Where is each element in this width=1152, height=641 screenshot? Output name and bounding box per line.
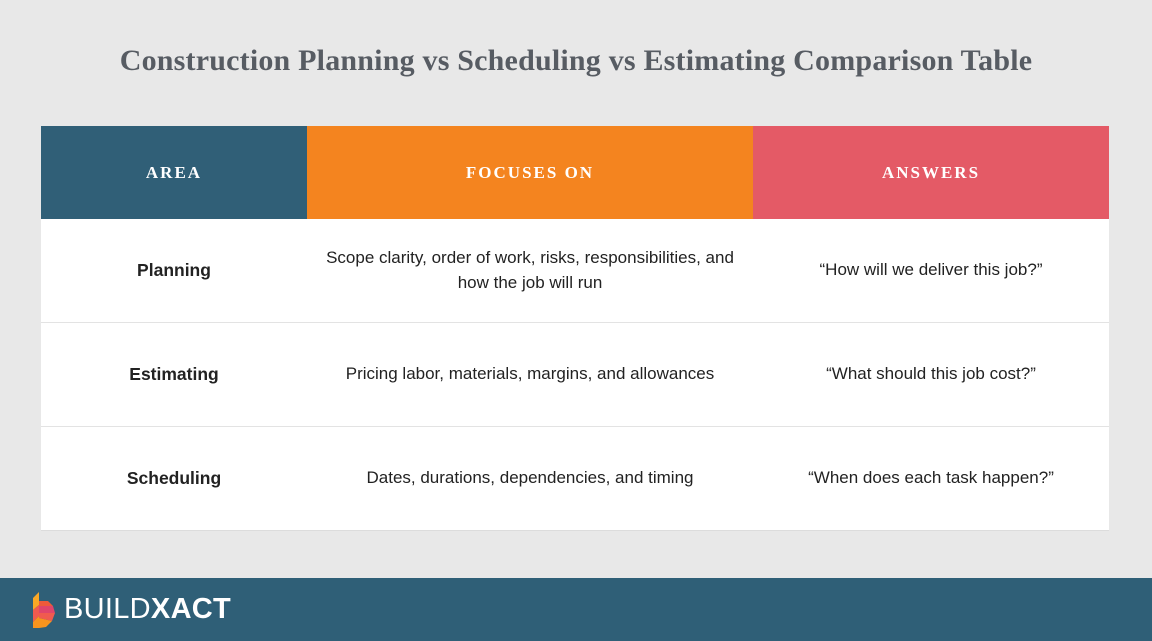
column-header-answers: ANSWERS — [753, 126, 1109, 219]
comparison-table: AREA FOCUSES ON ANSWERS Planning Scope c… — [41, 126, 1109, 531]
footer-bar: BUILDXACT — [0, 578, 1152, 641]
column-header-focuses-on: FOCUSES ON — [307, 126, 753, 219]
cell-area: Estimating — [41, 323, 307, 426]
brand-logo[interactable]: BUILDXACT — [31, 592, 231, 628]
cell-answers: “How will we deliver this job?” — [753, 219, 1109, 322]
cell-area: Scheduling — [41, 427, 307, 530]
cell-answers: “What should this job cost?” — [753, 323, 1109, 426]
cell-answers: “When does each task happen?” — [753, 427, 1109, 530]
cell-area: Planning — [41, 219, 307, 322]
table-header-row: AREA FOCUSES ON ANSWERS — [41, 126, 1109, 219]
cell-focuses-on: Dates, durations, dependencies, and timi… — [307, 427, 753, 530]
column-header-area: AREA — [41, 126, 307, 219]
page-root: Construction Planning vs Scheduling vs E… — [0, 0, 1152, 641]
brand-wordmark: BUILDXACT — [64, 595, 231, 624]
cell-focuses-on: Scope clarity, order of work, risks, res… — [307, 219, 753, 322]
brand-wordmark-xact: XACT — [151, 593, 231, 625]
brand-wordmark-build: BUILD — [64, 593, 151, 625]
table-row: Scheduling Dates, durations, dependencie… — [41, 427, 1109, 531]
table-row: Estimating Pricing labor, materials, mar… — [41, 323, 1109, 427]
buildxact-b-mark-icon — [31, 592, 57, 628]
table-row: Planning Scope clarity, order of work, r… — [41, 219, 1109, 323]
page-title: Construction Planning vs Scheduling vs E… — [0, 44, 1152, 78]
cell-focuses-on: Pricing labor, materials, margins, and a… — [307, 323, 753, 426]
